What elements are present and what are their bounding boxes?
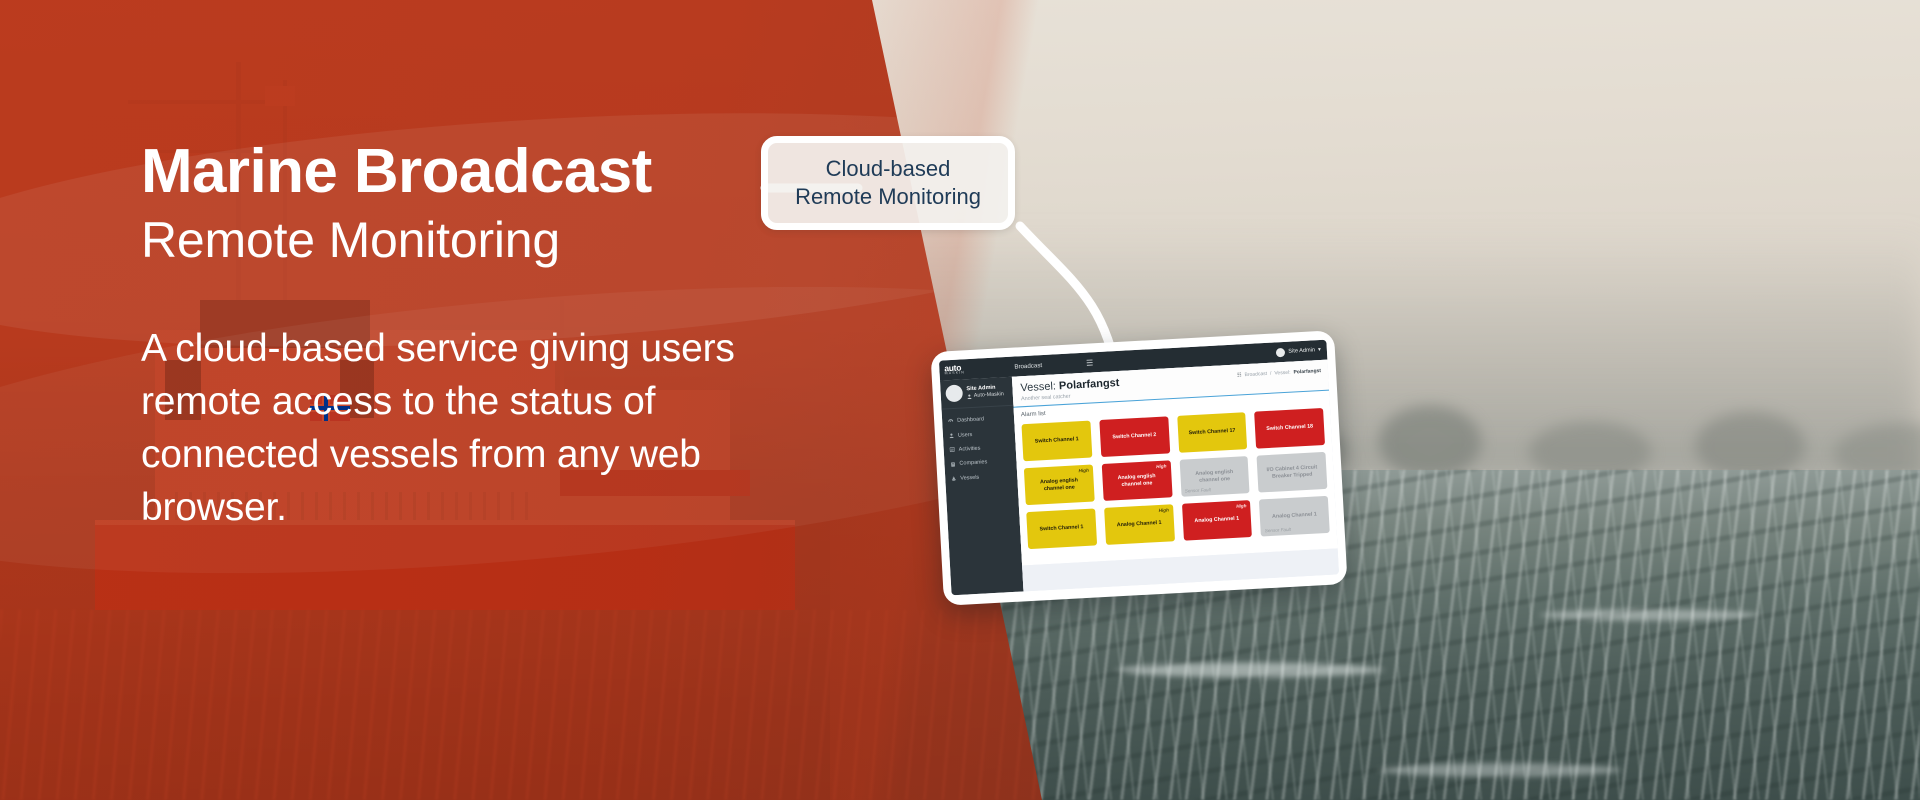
chevron-down-icon: ▾	[1318, 347, 1321, 353]
sidebar-user-org-label: Auto-Maskin	[974, 391, 1004, 399]
breadcrumb-home[interactable]: Broadcast	[1244, 371, 1267, 378]
callout-text: Cloud-based Remote Monitoring	[795, 155, 981, 210]
alarm-label: Analog Channel 1	[1272, 512, 1317, 521]
alarm-tile[interactable]: I/O Cabinet 4 Circuit Breaker Tripped	[1257, 452, 1328, 493]
sidebar-item-label: Dashboard	[957, 416, 984, 423]
sidebar-user-card[interactable]: Site Admin Auto-Maskin	[940, 377, 1013, 410]
home-icon[interactable]: ☷	[1237, 372, 1242, 378]
breadcrumb-separator: /	[1270, 371, 1272, 377]
topbar-user-label: Site Admin	[1288, 347, 1315, 354]
hamburger-icon[interactable]: ☰	[1086, 358, 1094, 367]
sidebar-item-label: Companies	[959, 460, 987, 467]
tablet-device: auto MASKIN Broadcast ☰ Site Admin ▾ Sit…	[930, 330, 1347, 605]
hero-subtitle: Remote Monitoring	[141, 211, 801, 270]
page-title-prefix: Vessel:	[1020, 380, 1059, 394]
alarm-label: Analog Channel 1	[1194, 516, 1239, 525]
logo-maskin-text: MASKIN	[945, 369, 1012, 376]
alarm-label: Switch Channel 2	[1112, 432, 1156, 441]
alarm-tile-grid: Switch Channel 1Switch Channel 2Switch C…	[1021, 408, 1329, 549]
user-icon	[967, 393, 972, 398]
alarm-level-label: High	[1158, 507, 1168, 513]
alarm-tile[interactable]: HighAnalog Channel 1	[1181, 500, 1252, 541]
alarm-label: I/O Cabinet 4 Circuit Breaker Tripped	[1262, 464, 1321, 480]
product-name: Broadcast	[1014, 362, 1042, 370]
alarm-panel: Alarm list Switch Channel 1Switch Channe…	[1014, 391, 1338, 566]
alarm-level-label: High	[1236, 503, 1246, 509]
page-title-value: Polarfangst	[1059, 377, 1120, 392]
sidebar-user-org: Auto-Maskin	[967, 391, 1004, 399]
activity-icon	[950, 447, 955, 452]
alarm-label: Switch Channel 1	[1035, 436, 1079, 445]
sidebar-item-vessels[interactable]: Vessels	[945, 468, 1018, 486]
sidebar: Site Admin Auto-Maskin Dashboard	[940, 377, 1024, 596]
sidebar-item-label: Vessels	[960, 474, 979, 481]
hero-title: Marine Broadcast	[141, 140, 801, 203]
sidebar-nav: Dashboard Users Activities Companie	[942, 406, 1018, 487]
alarm-tile[interactable]: HighAnalog Channel 1	[1104, 504, 1175, 545]
alarm-tile[interactable]: Switch Channel 1	[1021, 421, 1092, 462]
sidebar-item-label: Activities	[959, 445, 981, 452]
marine-broadcast-banner: Marine Broadcast Remote Monitoring A clo…	[0, 0, 1920, 800]
alarm-tile[interactable]: Switch Channel 2	[1099, 416, 1170, 457]
callout-line-1: Cloud-based	[795, 155, 981, 183]
callout-box: Cloud-based Remote Monitoring	[761, 136, 1015, 230]
app-body: Site Admin Auto-Maskin Dashboard	[940, 360, 1339, 596]
alarm-level-label: High	[1156, 463, 1166, 469]
hero-copy: Marine Broadcast Remote Monitoring A clo…	[141, 140, 801, 534]
alarm-label: Analog english channel one	[1029, 477, 1088, 493]
alarm-level-label: High	[1078, 467, 1088, 473]
building-icon	[950, 462, 955, 467]
alarm-label: Analog english channel one	[1107, 472, 1166, 488]
dashboard-icon	[948, 419, 953, 424]
alarm-label: Analog english channel one	[1185, 468, 1244, 484]
alarm-tile[interactable]: HighAnalog english channel one	[1024, 465, 1095, 506]
alarm-label: Switch Channel 18	[1266, 424, 1313, 433]
hero-body-text: A cloud-based service giving users remot…	[141, 322, 801, 534]
alarm-tile[interactable]: Analog english channel oneSensor Fault	[1179, 456, 1250, 497]
callout-line-2: Remote Monitoring	[795, 183, 981, 211]
app-logo[interactable]: auto MASKIN	[939, 361, 1012, 377]
user-icon	[949, 433, 954, 438]
breadcrumb-mid: Vessel:	[1274, 370, 1290, 377]
alarm-tile[interactable]: HighAnalog english channel one	[1101, 460, 1172, 501]
avatar	[945, 384, 963, 402]
sidebar-item-label: Users	[958, 432, 973, 439]
alarm-fault-label: Sensor Fault	[1185, 487, 1211, 493]
alarm-fault-label: Sensor Fault	[1265, 527, 1291, 533]
alarm-label: Analog Channel 1	[1117, 520, 1162, 529]
alarm-tile[interactable]: Analog Channel 1Sensor Fault	[1259, 496, 1330, 537]
alarm-label: Switch Channel 1	[1039, 524, 1083, 533]
tablet-screen: auto MASKIN Broadcast ☰ Site Admin ▾ Sit…	[939, 340, 1339, 596]
alarm-tile[interactable]: Switch Channel 1	[1026, 508, 1097, 549]
alarm-tile[interactable]: Switch Channel 17	[1177, 412, 1248, 453]
ship-icon	[951, 476, 956, 481]
topbar-user-menu[interactable]: Site Admin ▾	[1276, 345, 1327, 357]
alarm-tile[interactable]: Switch Channel 18	[1254, 408, 1325, 449]
avatar	[1276, 347, 1285, 356]
alarm-label: Switch Channel 17	[1189, 428, 1236, 437]
main-content: Vessel: Polarfangst Another seal catcher…	[1012, 360, 1339, 592]
